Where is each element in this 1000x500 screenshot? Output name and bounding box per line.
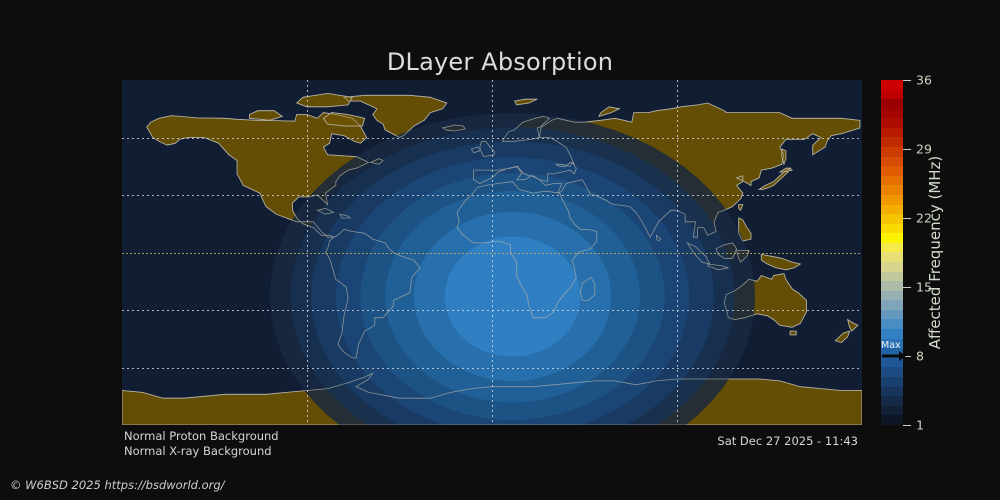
credit-line: © W6BSD 2025 https://bsdworld.org/ bbox=[10, 478, 225, 492]
colorbar-band bbox=[881, 252, 903, 262]
xray-background-note: Normal X-ray Background bbox=[124, 444, 279, 459]
colorbar-band bbox=[881, 109, 903, 119]
colorbar-band bbox=[881, 291, 903, 301]
landmass-ellesmere bbox=[297, 93, 353, 106]
colorbar-band bbox=[881, 319, 903, 329]
colorbar-tick-mark bbox=[903, 149, 911, 150]
colorbar-band bbox=[881, 406, 903, 416]
map-graphics bbox=[122, 80, 862, 425]
colorbar-band bbox=[881, 176, 903, 186]
colorbar-band bbox=[881, 329, 903, 339]
colorbar-tick-label: 8 bbox=[916, 349, 924, 364]
colorbar-band bbox=[881, 80, 903, 90]
colorbar-band bbox=[881, 147, 903, 157]
landmass-tasmania bbox=[790, 331, 796, 335]
colorbar-band bbox=[881, 214, 903, 224]
colorbar-band bbox=[881, 205, 903, 215]
status-notes: Normal Proton Background Normal X-ray Ba… bbox=[124, 429, 279, 459]
colorbar-tick-mark bbox=[903, 218, 911, 219]
timestamp: Sat Dec 27 2025 - 11:43 bbox=[717, 434, 858, 448]
colorbar-band bbox=[881, 272, 903, 282]
colorbar-band bbox=[881, 310, 903, 320]
colorbar-band bbox=[881, 195, 903, 205]
colorbar-band bbox=[881, 224, 903, 234]
colorbar-band bbox=[881, 367, 903, 377]
colorbar-band bbox=[881, 243, 903, 253]
absorption-contour-overlay bbox=[445, 237, 581, 357]
colorbar-band bbox=[881, 348, 903, 358]
dlayer-absorption-page: DLayer Absorption 3629221581 Affected Fr… bbox=[0, 0, 1000, 500]
colorbar-band bbox=[881, 185, 903, 195]
colorbar-band bbox=[881, 377, 903, 387]
colorbar-band bbox=[881, 166, 903, 176]
colorbar-band bbox=[881, 233, 903, 243]
landmass-svalbard bbox=[515, 99, 538, 105]
colorbar-band bbox=[881, 137, 903, 147]
colorbar-band bbox=[881, 396, 903, 406]
colorbar-axis-label: Affected Frequency (MHz) bbox=[924, 80, 946, 425]
proton-background-note: Normal Proton Background bbox=[124, 429, 279, 444]
colorbar-band bbox=[881, 415, 903, 425]
colorbar-tick-mark bbox=[903, 425, 911, 426]
colorbar-tick-mark bbox=[903, 287, 911, 288]
colorbar-band bbox=[881, 128, 903, 138]
page-title: DLayer Absorption bbox=[0, 48, 1000, 76]
colorbar-band bbox=[881, 157, 903, 167]
colorbar-band bbox=[881, 118, 903, 128]
colorbar-band bbox=[881, 90, 903, 100]
colorbar[interactable] bbox=[881, 80, 903, 425]
colorbar-band bbox=[881, 262, 903, 272]
colorbar-band bbox=[881, 387, 903, 397]
colorbar-tick-mark bbox=[903, 80, 911, 81]
colorbar-band bbox=[881, 281, 903, 291]
colorbar-band bbox=[881, 339, 903, 349]
colorbar-band bbox=[881, 300, 903, 310]
colorbar-band bbox=[881, 358, 903, 368]
colorbar-tick-mark bbox=[903, 356, 911, 357]
world-map-panel[interactable] bbox=[122, 80, 862, 425]
colorbar-tick-label: 1 bbox=[916, 418, 924, 433]
colorbar-band bbox=[881, 99, 903, 109]
